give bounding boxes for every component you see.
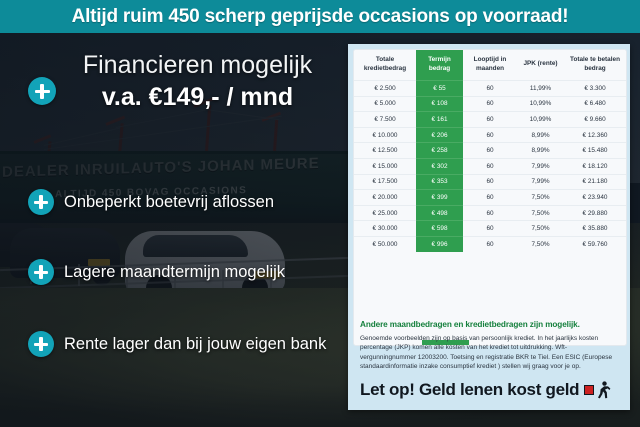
- table-row: € 7.500€ 1616010,99%€ 9.660: [354, 112, 626, 128]
- table-cell-c3: 7,50%: [517, 236, 564, 251]
- table-cell-c1: € 258: [416, 143, 463, 159]
- table-cell-c1: € 996: [416, 236, 463, 251]
- table-cell-c3: 7,99%: [517, 174, 564, 190]
- plus-icon-hero: [28, 77, 56, 105]
- loan-example-table: Totale kredietbedrag Termijn bedrag Loop…: [354, 50, 626, 252]
- table-row: € 5.000€ 1086010,99%€ 6.480: [354, 96, 626, 112]
- table-cell-c2: 60: [463, 143, 517, 159]
- promo-bullet-2: Lagere maandtermijn mogelijk: [28, 257, 348, 287]
- walking-man-glyph: [595, 381, 611, 399]
- table-cell-c1: € 161: [416, 112, 463, 128]
- disclaimer-body: Genoemde voorbeelden zijn op basis van p…: [360, 334, 618, 372]
- loan-table-container: Totale kredietbedrag Termijn bedrag Loop…: [353, 49, 627, 346]
- table-row: € 30.000€ 598607,50%€ 35.880: [354, 221, 626, 237]
- table-cell-c0: € 15.000: [354, 158, 416, 174]
- plus-icon: [28, 189, 54, 215]
- table-cell-c4: € 21.180: [564, 174, 626, 190]
- table-cell-c4: € 18.120: [564, 158, 626, 174]
- table-cell-c2: 60: [463, 112, 517, 128]
- table-cell-c2: 60: [463, 190, 517, 206]
- table-row: € 15.000€ 302607,99%€ 18.120: [354, 158, 626, 174]
- table-cell-c1: € 302: [416, 158, 463, 174]
- banner-headline: Altijd ruim 450 scherp geprijsde occasio…: [72, 6, 569, 28]
- table-cell-c1: € 498: [416, 205, 463, 221]
- table-cell-c4: € 12.360: [564, 127, 626, 143]
- promo-subheadline: v.a. €149,- / mnd: [60, 82, 335, 112]
- table-cell-c4: € 35.880: [564, 221, 626, 237]
- legal-warning-text: Let op! Geld lenen kost geld: [360, 380, 579, 400]
- plus-icon: [28, 259, 54, 285]
- finance-info-card: Totale kredietbedrag Termijn bedrag Loop…: [348, 44, 630, 410]
- table-cell-c4: € 3.300: [564, 81, 626, 97]
- table-cell-c2: 60: [463, 81, 517, 97]
- promo-headline: Financieren mogelijk: [60, 50, 335, 80]
- table-cell-c1: € 206: [416, 127, 463, 143]
- th-totale-te-betalen: Totale te betalen bedrag: [564, 50, 626, 81]
- legal-warning: Let op! Geld lenen kost geld: [360, 377, 622, 403]
- table-cell-c3: 10,99%: [517, 112, 564, 128]
- table-cell-c3: 8,99%: [517, 143, 564, 159]
- table-cell-c4: € 59.760: [564, 236, 626, 251]
- table-cell-c2: 60: [463, 174, 517, 190]
- disclaimer-title: Andere maandbedragen en kredietbedragen …: [360, 320, 618, 329]
- table-cell-c0: € 50.000: [354, 236, 416, 251]
- table-cell-c4: € 6.480: [564, 96, 626, 112]
- disclaimer-block: Andere maandbedragen en kredietbedragen …: [360, 320, 618, 372]
- table-cell-c4: € 23.940: [564, 190, 626, 206]
- table-cell-c4: € 29.880: [564, 205, 626, 221]
- table-cell-c0: € 17.500: [354, 174, 416, 190]
- table-row: € 12.500€ 258608,99%€ 15.480: [354, 143, 626, 159]
- promo-copy: Financieren mogelijk v.a. €149,- / mnd O…: [0, 33, 345, 427]
- running-man-icon: [584, 381, 611, 399]
- table-cell-c0: € 2.500: [354, 81, 416, 97]
- table-cell-c3: 10,99%: [517, 96, 564, 112]
- table-cell-c0: € 25.000: [354, 205, 416, 221]
- loan-table-body: € 2.500€ 556011,99%€ 3.300€ 5.000€ 10860…: [354, 81, 626, 252]
- table-cell-c3: 7,50%: [517, 205, 564, 221]
- plus-icon: [28, 331, 54, 357]
- table-cell-c3: 7,99%: [517, 158, 564, 174]
- promo-bullet-2-label: Lagere maandtermijn mogelijk: [64, 263, 285, 282]
- table-cell-c0: € 5.000: [354, 96, 416, 112]
- table-header-row: Totale kredietbedrag Termijn bedrag Loop…: [354, 50, 626, 81]
- table-cell-c1: € 108: [416, 96, 463, 112]
- table-row: € 17.500€ 353607,99%€ 21.180: [354, 174, 626, 190]
- table-cell-c1: € 598: [416, 221, 463, 237]
- table-cell-c0: € 7.500: [354, 112, 416, 128]
- th-termijn-bedrag: Termijn bedrag: [416, 50, 463, 81]
- table-cell-c3: 7,50%: [517, 221, 564, 237]
- table-row: € 25.000€ 498607,50%€ 29.880: [354, 205, 626, 221]
- th-looptijd: Looptijd in maanden: [463, 50, 517, 81]
- table-cell-c0: € 10.000: [354, 127, 416, 143]
- table-cell-c1: € 353: [416, 174, 463, 190]
- table-cell-c3: 8,99%: [517, 127, 564, 143]
- th-totale-kredietbedrag: Totale kredietbedrag: [354, 50, 416, 81]
- table-row: € 10.000€ 206608,99%€ 12.360: [354, 127, 626, 143]
- table-row: € 2.500€ 556011,99%€ 3.300: [354, 81, 626, 97]
- table-cell-c0: € 30.000: [354, 221, 416, 237]
- promo-bullet-1-label: Onbeperkt boetevrij aflossen: [64, 193, 274, 212]
- red-square-icon: [584, 385, 594, 395]
- table-cell-c4: € 9.660: [564, 112, 626, 128]
- table-cell-c2: 60: [463, 221, 517, 237]
- table-cell-c3: 11,99%: [517, 81, 564, 97]
- table-cell-c2: 60: [463, 205, 517, 221]
- promo-bullet-3: Rente lager dan bij jouw eigen bank: [28, 329, 348, 359]
- table-cell-c2: 60: [463, 158, 517, 174]
- th-jpk: JPK (rente): [517, 50, 564, 81]
- promo-bullet-1: Onbeperkt boetevrij aflossen: [28, 187, 348, 217]
- table-cell-c1: € 399: [416, 190, 463, 206]
- table-cell-c2: 60: [463, 236, 517, 251]
- table-cell-c1: € 55: [416, 81, 463, 97]
- table-cell-c2: 60: [463, 96, 517, 112]
- table-cell-c4: € 15.480: [564, 143, 626, 159]
- promo-bullet-3-label: Rente lager dan bij jouw eigen bank: [64, 335, 326, 354]
- table-cell-c2: 60: [463, 127, 517, 143]
- table-row: € 20.000€ 399607,50%€ 23.940: [354, 190, 626, 206]
- top-banner: Altijd ruim 450 scherp geprijsde occasio…: [0, 0, 640, 33]
- table-cell-c0: € 20.000: [354, 190, 416, 206]
- table-row: € 50.000€ 996607,50%€ 59.760: [354, 236, 626, 251]
- finance-advertisement: Altijd ruim 450 scherp geprijsde occasio…: [0, 0, 640, 427]
- table-cell-c0: € 12.500: [354, 143, 416, 159]
- table-cell-c3: 7,50%: [517, 190, 564, 206]
